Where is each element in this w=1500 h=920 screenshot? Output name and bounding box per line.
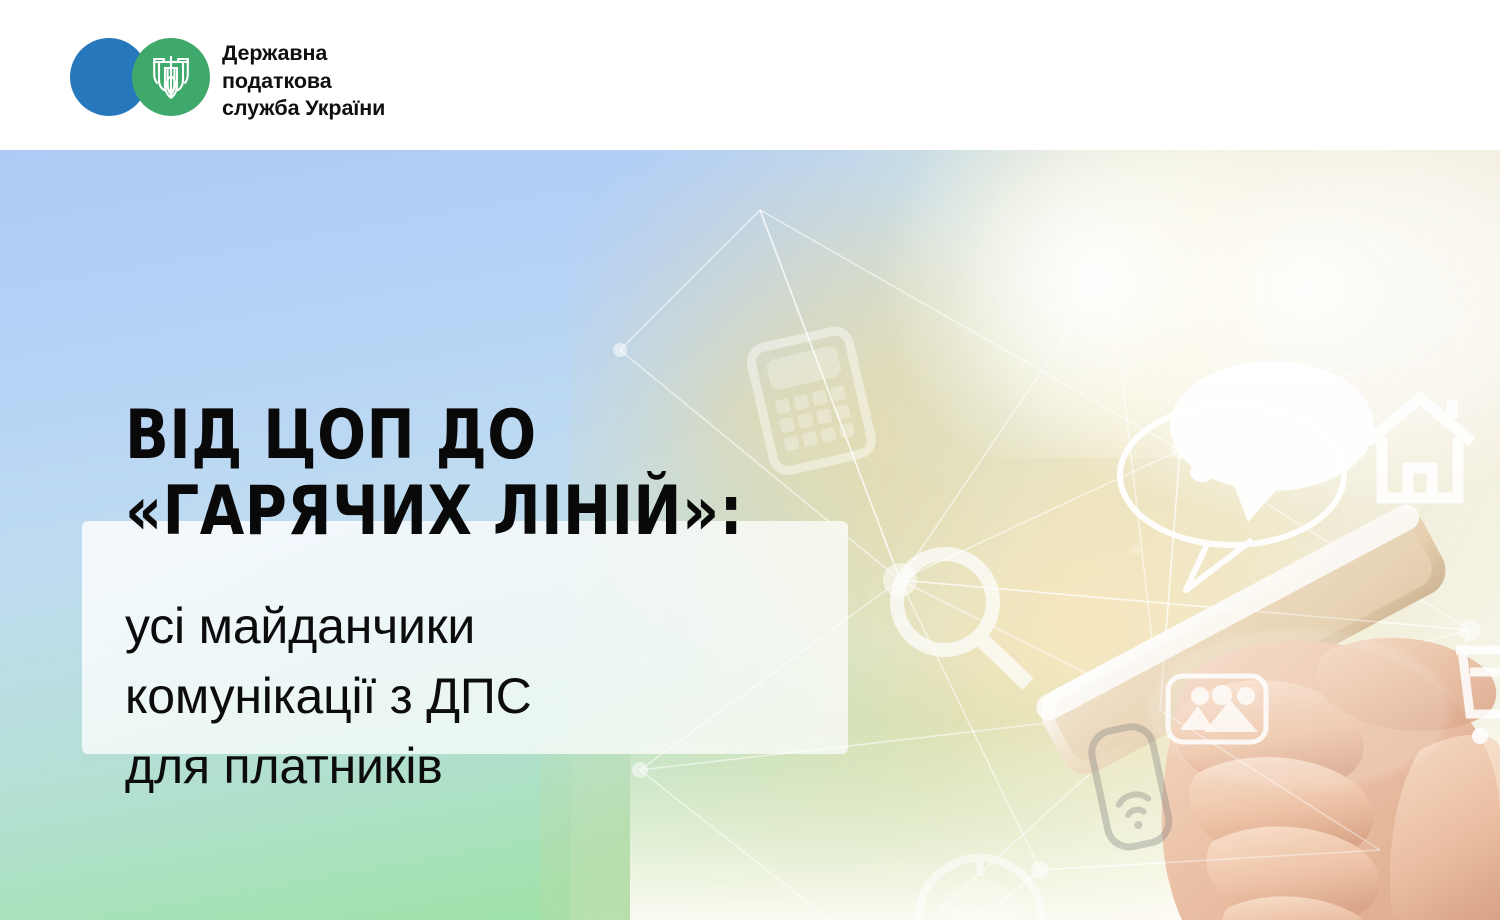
svg-text:24 h: 24 h	[946, 902, 1014, 920]
magnifier-icon	[897, 554, 1028, 684]
organization-name: Державна податкова служба України	[222, 38, 385, 123]
ukraine-trident-icon	[132, 38, 210, 116]
logo-marks	[70, 38, 210, 116]
page-subtitle: усі майданчики комунікації з ДПС для пла…	[125, 591, 845, 801]
site-header: Державна податкова служба України	[0, 0, 1500, 150]
clock-24h-icon: 24 h	[918, 858, 1042, 920]
house-icon	[1368, 398, 1472, 498]
page-title: ВІД ЦОП ДО «ГАРЯЧИХ ЛІНІЙ»:	[125, 398, 743, 550]
calculator-icon	[748, 328, 874, 473]
organization-logo[interactable]: Державна податкова служба України	[70, 38, 385, 123]
poster-canvas: 24 h ВІД ЦОП ДО «ГАРЯЧИХ ЛІНІЙ»: усі май…	[0, 0, 1500, 920]
speech-bubble-filled-icon	[1170, 361, 1374, 522]
